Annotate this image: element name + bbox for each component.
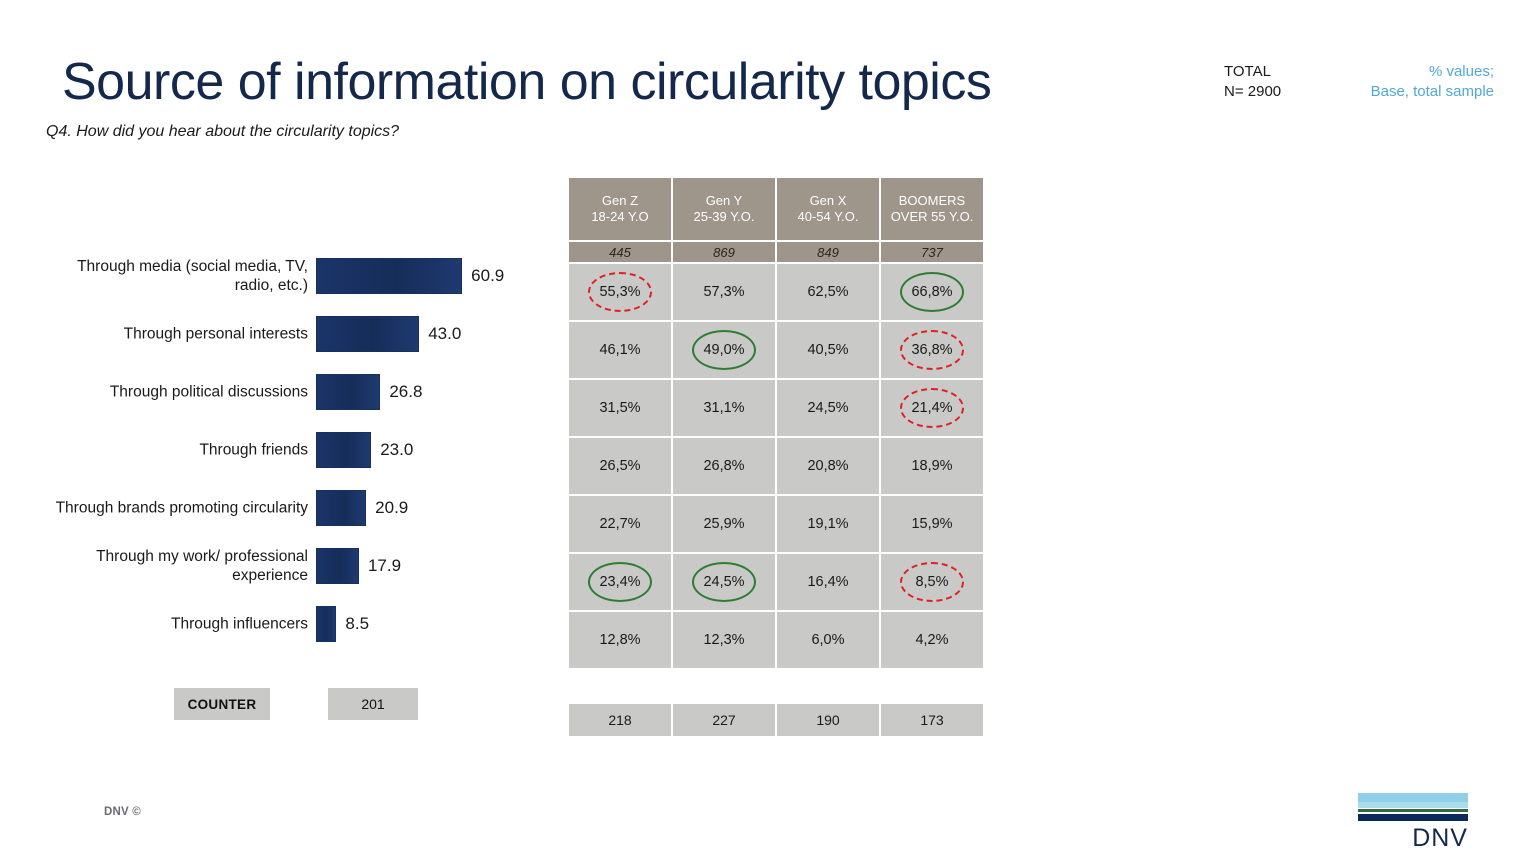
- logo-band-navy: [1358, 814, 1468, 821]
- table-cell: 46,1%: [569, 322, 671, 378]
- column-header-line2: 18-24 Y.O: [591, 209, 648, 225]
- base-note-block: % values; Base, total sample: [1334, 62, 1494, 102]
- table-column-header: Gen X40-54 Y.O.: [777, 178, 879, 240]
- table-cell-value: 19,1%: [807, 516, 848, 532]
- counter-total-value: 201: [328, 688, 418, 720]
- column-header-line1: Gen Z: [591, 193, 648, 209]
- table-cell-value: 57,3%: [703, 284, 744, 300]
- column-header-line1: Gen X: [798, 193, 859, 209]
- bar-value-label: 23.0: [380, 440, 413, 460]
- column-header-line2: 25-39 Y.O.: [694, 209, 755, 225]
- table-cell-value: 15,9%: [911, 516, 952, 532]
- base-size-cell: 737: [881, 242, 983, 262]
- table-cell: 26,8%: [673, 438, 775, 494]
- total-base-block: TOTAL N= 2900: [1224, 62, 1281, 102]
- table-cell-value: 24,5%: [807, 400, 848, 416]
- table-row: 22,7%25,9%19,1%15,9%: [569, 496, 986, 552]
- bar-value-label: 60.9: [471, 266, 504, 286]
- table-cell: 19,1%: [777, 496, 879, 552]
- counter-cell: 227: [673, 704, 775, 736]
- table-cell-value: 46,1%: [599, 342, 640, 358]
- table-row: 55,3%57,3%62,5%66,8%: [569, 264, 986, 320]
- logo-wordmark: DNV: [1358, 825, 1468, 851]
- table-cell: 24,5%: [777, 380, 879, 436]
- bar: [316, 606, 336, 642]
- table-cell: 55,3%: [569, 264, 671, 320]
- table-cell: 66,8%: [881, 264, 983, 320]
- bar-value-label: 8.5: [345, 614, 369, 634]
- column-header-line1: BOOMERS: [891, 193, 974, 209]
- table-cell-value: 26,8%: [703, 458, 744, 474]
- base-size-cell: 445: [569, 242, 671, 262]
- table-cell: 6,0%: [777, 612, 879, 668]
- bar: [316, 548, 359, 584]
- table-base-size-row: 445869849737: [569, 242, 986, 262]
- bar: [316, 432, 371, 468]
- table-cell: 12,3%: [673, 612, 775, 668]
- bar-category-label: Through my work/ professional experience: [48, 547, 308, 585]
- table-cell-value: 62,5%: [807, 284, 848, 300]
- base-size-cell: 869: [673, 242, 775, 262]
- table-row: 12,8%12,3%6,0%4,2%: [569, 612, 986, 668]
- table-cell-value: 16,4%: [807, 574, 848, 590]
- table-cell: 23,4%: [569, 554, 671, 610]
- table-header-row: Gen Z18-24 Y.OGen Y25-39 Y.O.Gen X40-54 …: [569, 178, 986, 240]
- total-label: TOTAL: [1224, 62, 1281, 82]
- bar: [316, 316, 419, 352]
- table-row: 46,1%49,0%40,5%36,8%: [569, 322, 986, 378]
- table-cell-value: 20,8%: [807, 458, 848, 474]
- counter-cell: 218: [569, 704, 671, 736]
- table-cell: 26,5%: [569, 438, 671, 494]
- generation-breakdown-table: Gen Z18-24 Y.OGen Y25-39 Y.O.Gen X40-54 …: [569, 178, 986, 738]
- table-cell-value: 31,5%: [599, 400, 640, 416]
- bar-row: Through my work/ professional experience…: [60, 546, 530, 586]
- bar-category-label: Through friends: [48, 441, 308, 460]
- base-size-cell: 849: [777, 242, 879, 262]
- table-cell: 40,5%: [777, 322, 879, 378]
- bar-row: Through political discussions26.8: [60, 372, 530, 412]
- question-subtitle: Q4. How did you hear about the circulari…: [46, 123, 399, 141]
- table-cell-value: 25,9%: [703, 516, 744, 532]
- bar-category-label: Through personal interests: [48, 325, 308, 344]
- counter-cell: 190: [777, 704, 879, 736]
- table-column-header: Gen Z18-24 Y.O: [569, 178, 671, 240]
- table-cell-value: 31,1%: [703, 400, 744, 416]
- table-cell-value: 40,5%: [807, 342, 848, 358]
- base-note-line1: % values;: [1334, 62, 1494, 82]
- table-cell: 4,2%: [881, 612, 983, 668]
- bar-category-label: Through political discussions: [48, 383, 308, 402]
- table-cell: 31,1%: [673, 380, 775, 436]
- bar-value-label: 20.9: [375, 498, 408, 518]
- table-cell-value: 18,9%: [911, 458, 952, 474]
- bar-row: Through brands promoting circularity20.9: [60, 488, 530, 528]
- table-cell-value: 8,5%: [915, 574, 948, 590]
- bar-row: Through influencers8.5: [60, 604, 530, 644]
- table-cell-value: 55,3%: [599, 284, 640, 300]
- logo-band-green: [1358, 809, 1468, 812]
- column-header-line1: Gen Y: [694, 193, 755, 209]
- dnv-logo: DNV: [1358, 793, 1468, 851]
- table-row: 26,5%26,8%20,8%18,9%: [569, 438, 986, 494]
- table-cell-value: 4,2%: [915, 632, 948, 648]
- base-note-line2: Base, total sample: [1334, 82, 1494, 102]
- bar-category-label: Through influencers: [48, 615, 308, 634]
- table-cell-value: 12,8%: [599, 632, 640, 648]
- table-cell: 16,4%: [777, 554, 879, 610]
- table-cell-value: 6,0%: [811, 632, 844, 648]
- table-column-header: Gen Y25-39 Y.O.: [673, 178, 775, 240]
- table-cell: 18,9%: [881, 438, 983, 494]
- table-cell: 49,0%: [673, 322, 775, 378]
- bar-value-label: 26.8: [389, 382, 422, 402]
- counter-cell: 173: [881, 704, 983, 736]
- table-cell-value: 66,8%: [911, 284, 952, 300]
- table-cell: 36,8%: [881, 322, 983, 378]
- table-cell-value: 22,7%: [599, 516, 640, 532]
- table-cell: 8,5%: [881, 554, 983, 610]
- bar-row: Through personal interests43.0: [60, 314, 530, 354]
- bar-category-label: Through brands promoting circularity: [48, 499, 308, 518]
- bar-row: Through friends23.0: [60, 430, 530, 470]
- bar-category-label: Through media (social media, TV, radio, …: [48, 257, 308, 295]
- table-cell: 12,8%: [569, 612, 671, 668]
- table-cell-value: 24,5%: [703, 574, 744, 590]
- table-cell: 24,5%: [673, 554, 775, 610]
- table-cell: 15,9%: [881, 496, 983, 552]
- table-row: 23,4%24,5%16,4%8,5%: [569, 554, 986, 610]
- table-cell: 31,5%: [569, 380, 671, 436]
- total-n-value: N= 2900: [1224, 82, 1281, 102]
- bar-row: Through media (social media, TV, radio, …: [60, 256, 530, 296]
- table-cell: 57,3%: [673, 264, 775, 320]
- table-cell: 22,7%: [569, 496, 671, 552]
- footer-copyright: DNV ©: [104, 806, 141, 818]
- table-cell-value: 21,4%: [911, 400, 952, 416]
- table-cell-value: 12,3%: [703, 632, 744, 648]
- bar: [316, 258, 462, 294]
- table-cell-value: 49,0%: [703, 342, 744, 358]
- bar-chart: Through media (social media, TV, radio, …: [60, 256, 530, 656]
- table-cell: 25,9%: [673, 496, 775, 552]
- table-cell: 21,4%: [881, 380, 983, 436]
- column-header-line2: OVER 55 Y.O.: [891, 209, 974, 225]
- table-column-header: BOOMERSOVER 55 Y.O.: [881, 178, 983, 240]
- table-cell: 20,8%: [777, 438, 879, 494]
- table-cell: 62,5%: [777, 264, 879, 320]
- table-cell-value: 36,8%: [911, 342, 952, 358]
- table-cell-value: 23,4%: [599, 574, 640, 590]
- counter-label: COUNTER: [174, 688, 270, 720]
- logo-band-paleblue: [1358, 802, 1468, 808]
- table-cell-value: 26,5%: [599, 458, 640, 474]
- bar-value-label: 43.0: [428, 324, 461, 344]
- column-header-line2: 40-54 Y.O.: [798, 209, 859, 225]
- bar: [316, 374, 380, 410]
- table-row: 31,5%31,1%24,5%21,4%: [569, 380, 986, 436]
- table-counter-row: 218227190173: [569, 704, 986, 736]
- bar: [316, 490, 366, 526]
- bar-value-label: 17.9: [368, 556, 401, 576]
- page-title: Source of information on circularity top…: [62, 52, 991, 112]
- logo-band-lightblue: [1358, 793, 1468, 802]
